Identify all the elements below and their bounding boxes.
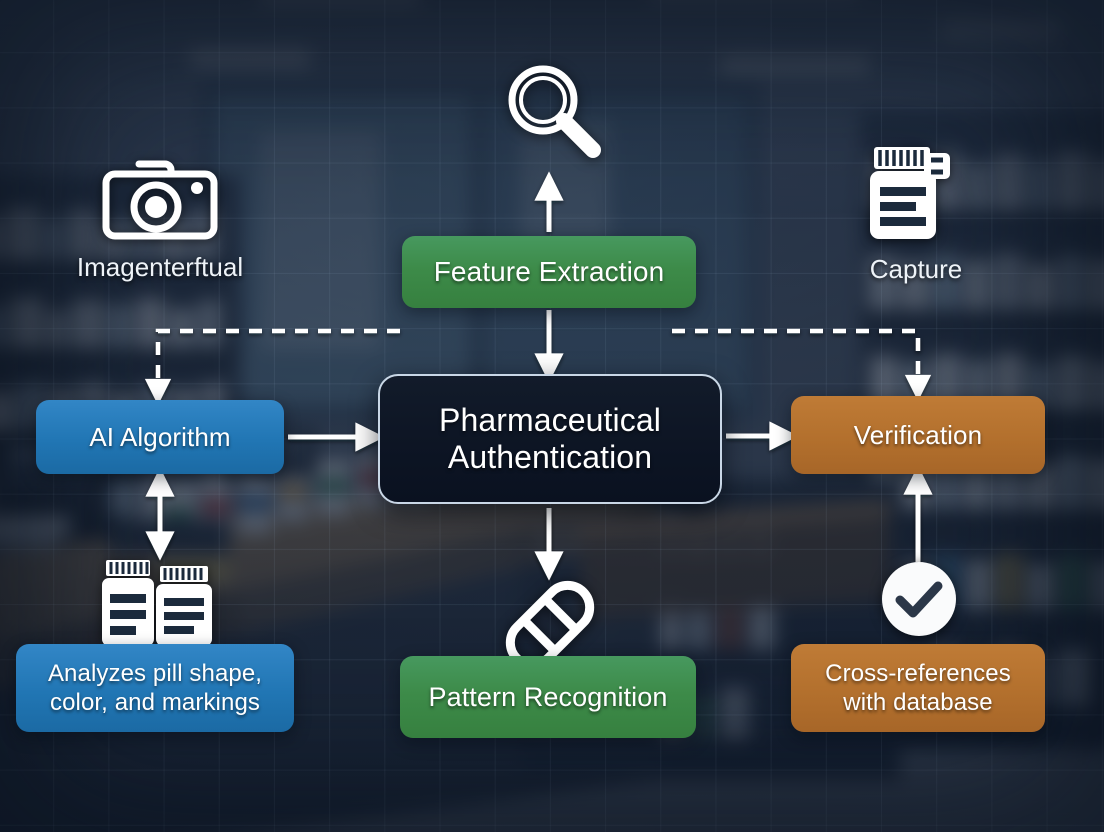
magnifying-glass-icon xyxy=(500,58,604,167)
node-cross-references-database-label: Cross-references with database xyxy=(815,659,1021,718)
node-verification-label: Verification xyxy=(844,420,992,451)
pill-bottles-icon xyxy=(98,550,220,655)
node-feature-extraction[interactable]: Feature Extraction xyxy=(402,236,696,308)
capture-caption: Capture xyxy=(870,254,963,285)
image-capture-caption: Imagenterftual xyxy=(77,252,243,283)
node-pattern-recognition-label: Pattern Recognition xyxy=(418,682,677,713)
camera-icon xyxy=(101,155,219,246)
node-feature-extraction-label: Feature Extraction xyxy=(424,256,675,288)
diagram-canvas: Imagenterftual xyxy=(0,0,1104,832)
node-analyzes-pill-attributes[interactable]: Analyzes pill shape, color, and markings xyxy=(16,644,294,732)
check-circle-icon xyxy=(880,560,958,643)
icon-group-capture: Capture xyxy=(816,143,1016,285)
pill-bottle-icon xyxy=(864,143,968,248)
node-pharmaceutical-authentication[interactable]: Pharmaceutical Authentication xyxy=(378,374,722,504)
node-ai-algorithm-label: AI Algorithm xyxy=(79,422,240,453)
node-analyzes-pill-attributes-label: Analyzes pill shape, color, and markings xyxy=(38,659,272,718)
node-pattern-recognition[interactable]: Pattern Recognition xyxy=(400,656,696,738)
node-ai-algorithm[interactable]: AI Algorithm xyxy=(36,400,284,474)
node-pharmaceutical-authentication-label: Pharmaceutical Authentication xyxy=(429,402,671,476)
icon-group-image-capture: Imagenterftual xyxy=(60,155,260,283)
node-cross-references-database[interactable]: Cross-references with database xyxy=(791,644,1045,732)
node-verification[interactable]: Verification xyxy=(791,396,1045,474)
